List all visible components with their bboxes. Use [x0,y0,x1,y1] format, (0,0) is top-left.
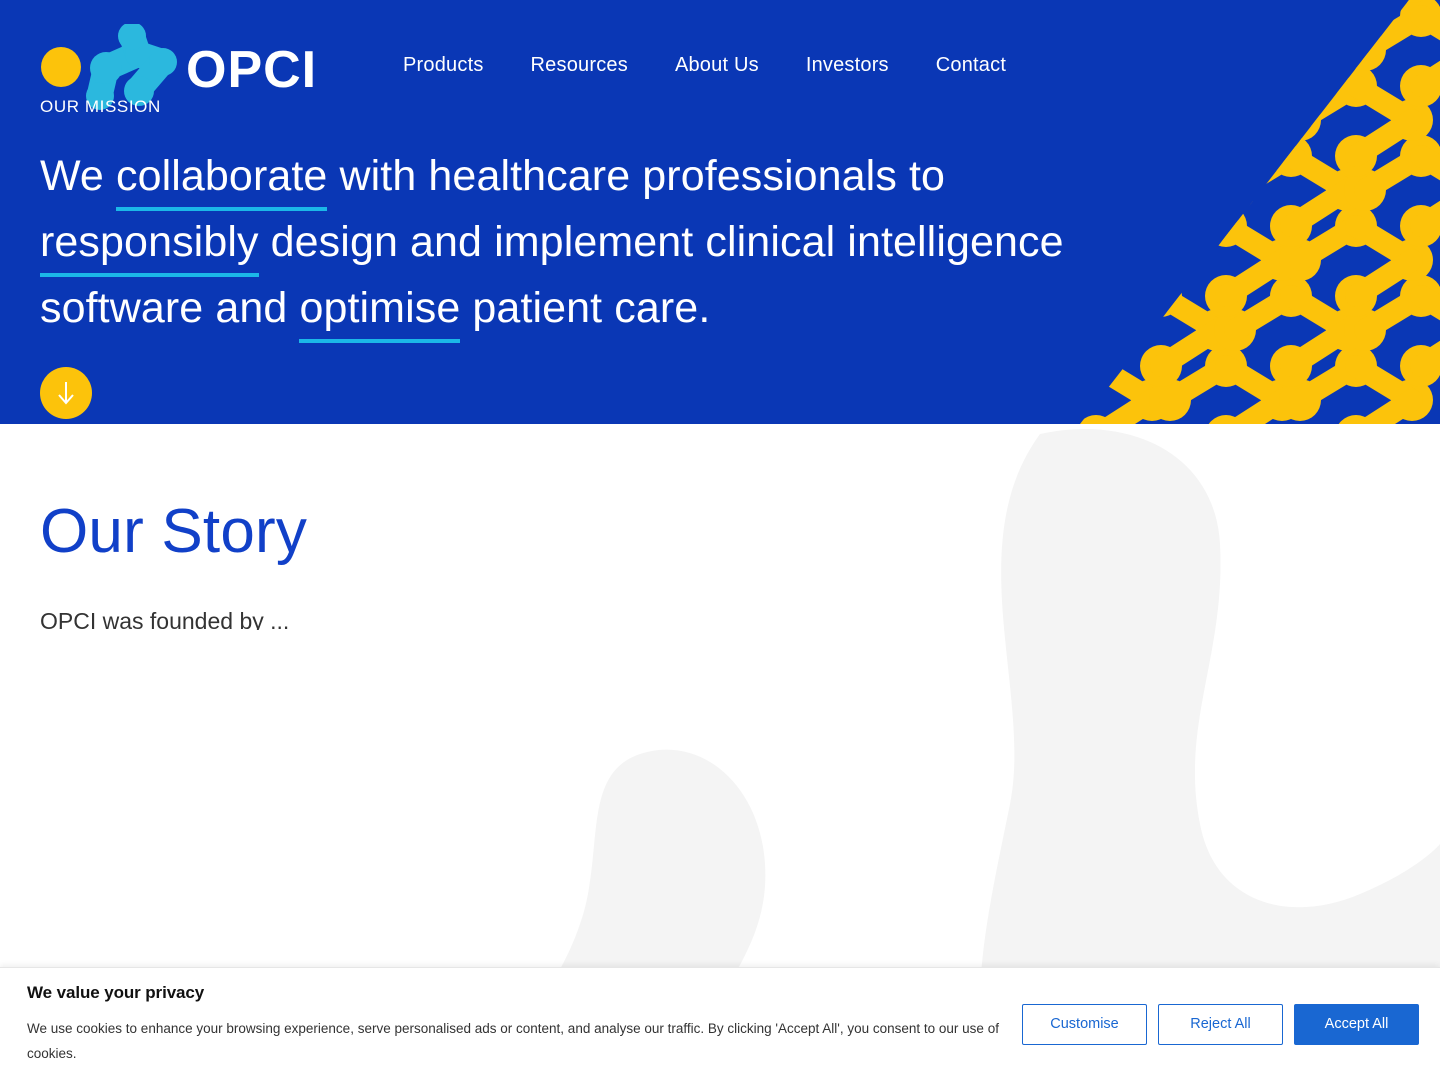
reject-all-button[interactable]: Reject All [1158,1004,1283,1045]
story-title: Our Story [40,496,307,567]
nav-item-investors[interactable]: Investors [806,54,889,77]
cookie-consent-banner: We value your privacy We use cookies to … [0,967,1440,1080]
nav-item-resources[interactable]: Resources [531,54,628,77]
headline-highlight-optimise: optimise [299,284,460,343]
headline-highlight-collaborate: collaborate [116,152,327,211]
nav-item-about-us[interactable]: About Us [675,54,759,77]
nav-item-contact[interactable]: Contact [936,54,1006,77]
scroll-down-button[interactable] [40,367,92,419]
site-header: OPCI Products Resources About Us Investo… [0,0,1440,120]
nav-item-products[interactable]: Products [403,54,484,77]
headline-part-4: patient care. [460,284,710,332]
cookie-banner-body: We use cookies to enhance your browsing … [27,1016,1002,1066]
story-body-text: OPCI was founded by ... [40,604,740,630]
headline-part-2: with healthcare professionals to [327,152,945,200]
accept-all-button[interactable]: Accept All [1294,1004,1419,1045]
hero-section: OPCI Products Resources About Us Investo… [0,0,1440,424]
cookie-banner-actions: Customise Reject All Accept All [1022,1004,1419,1045]
arrow-down-icon [55,380,77,406]
hero-eyebrow: OUR MISSION [40,97,161,117]
headline-part-1: We [40,152,116,200]
story-body-clip: OPCI was founded by ... [40,604,740,630]
headline-highlight-responsibly: responsibly [40,218,259,277]
cookie-text-block: We value your privacy We use cookies to … [27,983,1012,1066]
hero-headline: We collaborate with healthcare professio… [40,143,1130,341]
customise-button[interactable]: Customise [1022,1004,1147,1045]
page-root: OPCI Products Resources About Us Investo… [0,0,1440,1080]
main-nav: Products Resources About Us Investors Co… [403,54,1006,77]
logo-wordmark: OPCI [186,44,317,96]
cookie-banner-title: We value your privacy [27,983,1012,1003]
